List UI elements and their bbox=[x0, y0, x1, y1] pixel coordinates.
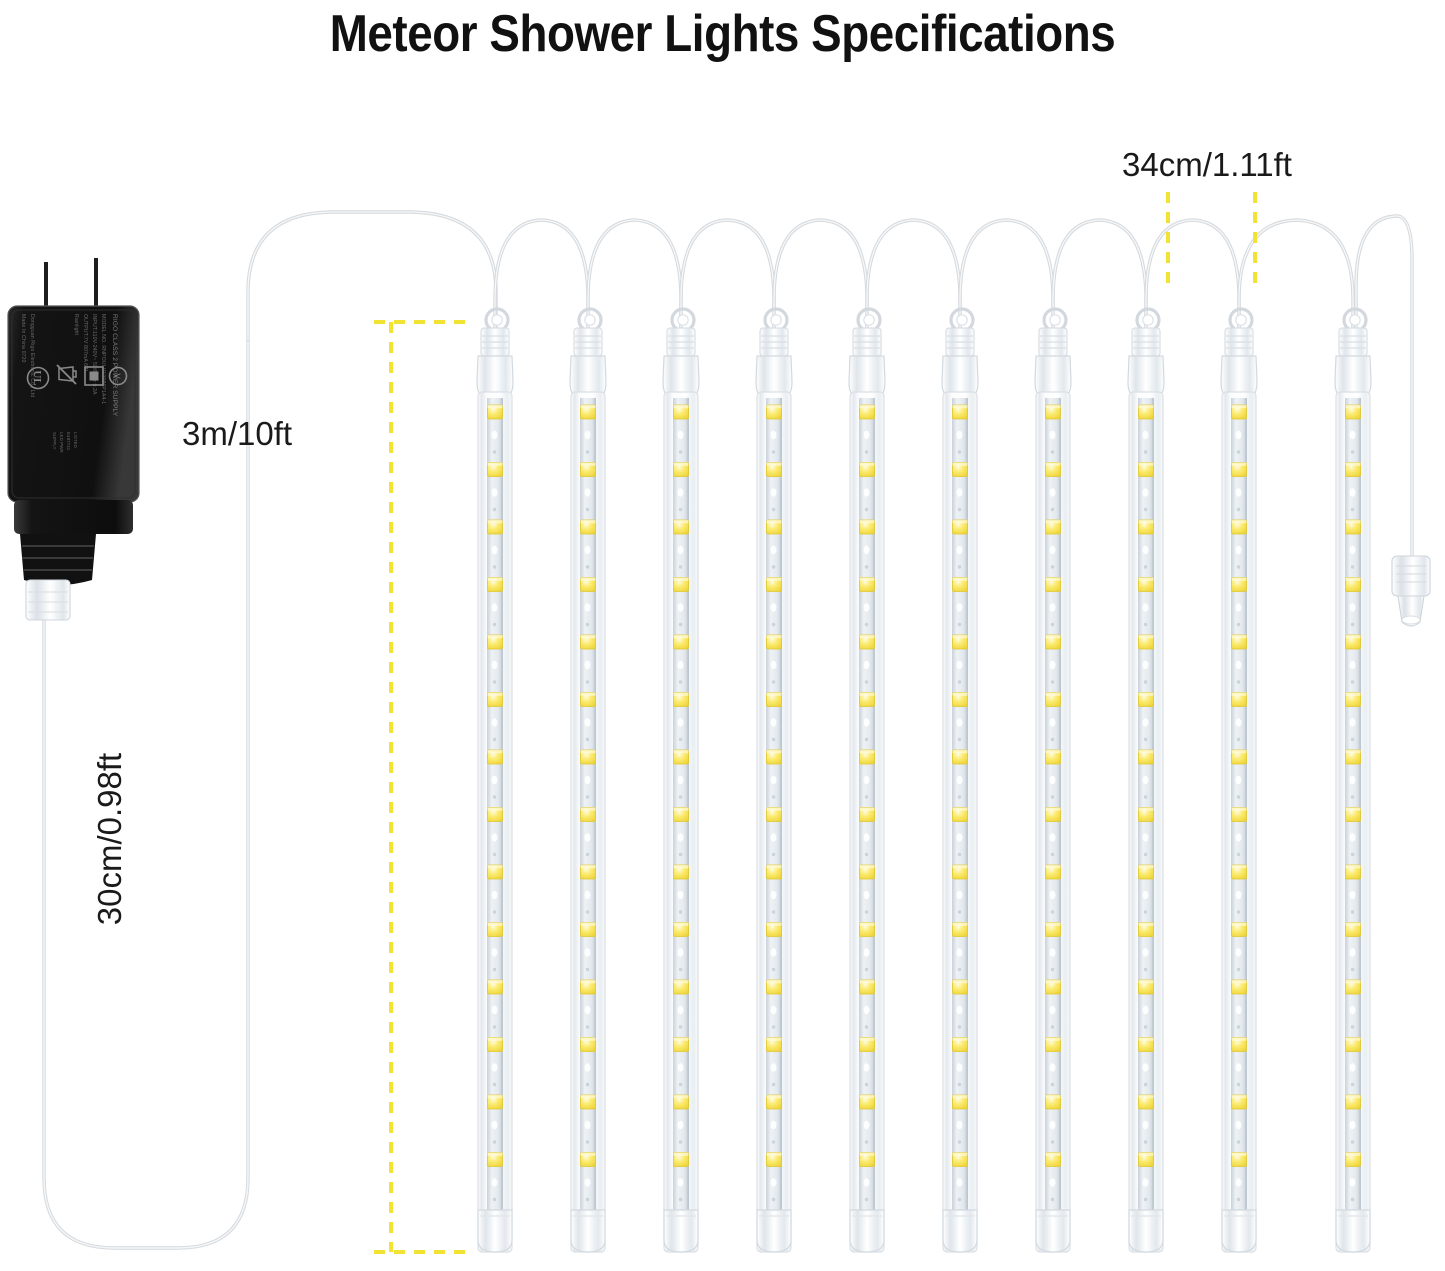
solder-dot bbox=[585, 603, 591, 611]
led-meteor-tube bbox=[1335, 309, 1371, 1252]
solder-dot bbox=[1143, 1178, 1149, 1186]
led-meteor-tube bbox=[1128, 309, 1164, 1252]
solder-dot bbox=[771, 1178, 777, 1186]
solder-dot bbox=[492, 661, 498, 669]
solder-dot bbox=[1143, 833, 1149, 841]
solder-dot bbox=[492, 718, 498, 726]
solder-dot bbox=[1350, 488, 1356, 496]
solder-dot bbox=[678, 1121, 684, 1129]
solder-dot bbox=[1143, 948, 1149, 956]
solder-dot bbox=[678, 431, 684, 439]
solder-dot bbox=[864, 1006, 870, 1014]
solder-dot bbox=[678, 603, 684, 611]
solder-dot bbox=[957, 776, 963, 784]
adapter-neck bbox=[14, 500, 133, 534]
power-adapter bbox=[8, 258, 139, 620]
solder-dot bbox=[1350, 891, 1356, 899]
solder-dot bbox=[1236, 1121, 1242, 1129]
solder-dot bbox=[864, 661, 870, 669]
solder-dot bbox=[1143, 431, 1149, 439]
tube-neck bbox=[667, 328, 695, 356]
connector-arc-group bbox=[495, 220, 1353, 352]
solder-dot bbox=[771, 661, 777, 669]
solder-dot bbox=[1236, 1178, 1242, 1186]
solder-dot bbox=[1350, 603, 1356, 611]
adapter-socket bbox=[26, 580, 70, 620]
solder-dot bbox=[771, 1121, 777, 1129]
solder-dot bbox=[1350, 833, 1356, 841]
solder-dot bbox=[1050, 488, 1056, 496]
solder-dot bbox=[771, 948, 777, 956]
tube-neck bbox=[946, 328, 974, 356]
solder-dot bbox=[771, 488, 777, 496]
led-meteor-tube bbox=[849, 309, 885, 1252]
solder-dot bbox=[1143, 488, 1149, 496]
solder-dot bbox=[678, 1178, 684, 1186]
solder-dot bbox=[957, 891, 963, 899]
solder-dot bbox=[1350, 1006, 1356, 1014]
solder-dot bbox=[864, 833, 870, 841]
end-connector-plug bbox=[1392, 556, 1430, 626]
solder-dot bbox=[492, 1121, 498, 1129]
solder-dot bbox=[1350, 661, 1356, 669]
tube-neck bbox=[1039, 328, 1067, 356]
tube-neck bbox=[1339, 328, 1367, 356]
solder-dot bbox=[585, 833, 591, 841]
solder-dot bbox=[585, 488, 591, 496]
solder-dot bbox=[957, 718, 963, 726]
solder-dot bbox=[492, 776, 498, 784]
solder-dot bbox=[864, 1063, 870, 1071]
solder-dot bbox=[585, 1121, 591, 1129]
solder-dot bbox=[585, 776, 591, 784]
solder-dot bbox=[864, 948, 870, 956]
solder-dot bbox=[585, 431, 591, 439]
solder-dot bbox=[678, 833, 684, 841]
solder-dot bbox=[585, 546, 591, 554]
solder-dot bbox=[864, 1178, 870, 1186]
solder-dot bbox=[957, 488, 963, 496]
solder-dot bbox=[678, 891, 684, 899]
solder-dot bbox=[1236, 603, 1242, 611]
solder-dot bbox=[771, 776, 777, 784]
solder-dot bbox=[585, 661, 591, 669]
solder-dot bbox=[957, 431, 963, 439]
solder-dot bbox=[585, 1178, 591, 1186]
solder-dot bbox=[1350, 718, 1356, 726]
adapter-body bbox=[8, 306, 139, 502]
solder-dot bbox=[1236, 1006, 1242, 1014]
solder-dot bbox=[1050, 833, 1056, 841]
specification-diagram: Meteor Shower Lights Specifications bbox=[0, 0, 1445, 1271]
solder-dot bbox=[678, 1063, 684, 1071]
solder-dot bbox=[771, 431, 777, 439]
solder-dot bbox=[492, 1006, 498, 1014]
solder-dot bbox=[585, 1063, 591, 1071]
solder-dot bbox=[1350, 948, 1356, 956]
solder-dot bbox=[1350, 1121, 1356, 1129]
solder-dot bbox=[1350, 776, 1356, 784]
wire-layer bbox=[44, 212, 1412, 1248]
solder-dot bbox=[492, 1063, 498, 1071]
led-meteor-tube bbox=[1221, 309, 1257, 1252]
solder-dot bbox=[678, 948, 684, 956]
dimension-label-cord-length: 3m/10ft bbox=[182, 415, 292, 453]
solder-dot bbox=[1050, 718, 1056, 726]
solder-dot bbox=[1143, 718, 1149, 726]
solder-dot bbox=[1236, 661, 1242, 669]
solder-dot bbox=[864, 488, 870, 496]
solder-dot bbox=[678, 718, 684, 726]
solder-dot bbox=[771, 546, 777, 554]
solder-dot bbox=[864, 431, 870, 439]
tube-neck bbox=[1132, 328, 1160, 356]
solder-dot bbox=[585, 718, 591, 726]
led-meteor-tube bbox=[570, 309, 606, 1252]
solder-dot bbox=[1350, 1178, 1356, 1186]
solder-dot bbox=[864, 603, 870, 611]
solder-dot bbox=[957, 546, 963, 554]
solder-dot bbox=[585, 1006, 591, 1014]
solder-dot bbox=[957, 1063, 963, 1071]
led-meteor-tube bbox=[663, 309, 699, 1252]
solder-dot bbox=[492, 833, 498, 841]
led-meteor-tube bbox=[477, 309, 513, 1252]
tube-neck bbox=[481, 328, 509, 356]
solder-dot bbox=[1143, 1006, 1149, 1014]
solder-dot bbox=[585, 891, 591, 899]
solder-dot bbox=[1236, 488, 1242, 496]
tube-group bbox=[477, 309, 1371, 1252]
solder-dot bbox=[957, 661, 963, 669]
solder-dot bbox=[1050, 1178, 1056, 1186]
solder-dot bbox=[492, 431, 498, 439]
solder-dot bbox=[492, 891, 498, 899]
solder-dot bbox=[678, 776, 684, 784]
solder-dot bbox=[1050, 1063, 1056, 1071]
solder-dot bbox=[678, 546, 684, 554]
solder-dot bbox=[1143, 891, 1149, 899]
dimension-label-tube-length: 30cm/0.98ft bbox=[91, 689, 129, 989]
solder-dot bbox=[1050, 431, 1056, 439]
solder-dot bbox=[1236, 718, 1242, 726]
solder-dot bbox=[678, 1006, 684, 1014]
solder-dot bbox=[492, 603, 498, 611]
solder-dot bbox=[957, 1006, 963, 1014]
solder-dot bbox=[771, 603, 777, 611]
solder-dot bbox=[1143, 776, 1149, 784]
led-meteor-tube bbox=[756, 309, 792, 1252]
solder-dot bbox=[1143, 603, 1149, 611]
solder-dot bbox=[585, 948, 591, 956]
solder-dot bbox=[1050, 891, 1056, 899]
solder-dot bbox=[771, 891, 777, 899]
solder-dot bbox=[864, 546, 870, 554]
tube-neck bbox=[760, 328, 788, 356]
solder-dot bbox=[1236, 431, 1242, 439]
solder-dot bbox=[771, 1006, 777, 1014]
solder-dot bbox=[1236, 948, 1242, 956]
adapter-collar bbox=[20, 534, 96, 585]
solder-dot bbox=[678, 661, 684, 669]
solder-dot bbox=[1050, 661, 1056, 669]
product-illustration bbox=[0, 0, 1445, 1271]
solder-dot bbox=[957, 1121, 963, 1129]
tube-neck bbox=[1225, 328, 1253, 356]
solder-dot bbox=[1143, 661, 1149, 669]
solder-dot bbox=[1350, 431, 1356, 439]
solder-dot bbox=[864, 718, 870, 726]
solder-dot bbox=[1050, 546, 1056, 554]
solder-dot bbox=[1143, 1063, 1149, 1071]
solder-dot bbox=[492, 546, 498, 554]
solder-dot bbox=[1236, 776, 1242, 784]
led-meteor-tube bbox=[942, 309, 978, 1252]
solder-dot bbox=[957, 948, 963, 956]
solder-dot bbox=[1143, 546, 1149, 554]
solder-dot bbox=[1050, 948, 1056, 956]
solder-dot bbox=[1050, 776, 1056, 784]
solder-dot bbox=[957, 833, 963, 841]
solder-dot bbox=[957, 1178, 963, 1186]
solder-dot bbox=[771, 1063, 777, 1071]
solder-dot bbox=[492, 1178, 498, 1186]
dimension-label-tube-spacing: 34cm/1.11ft bbox=[1122, 146, 1292, 184]
solder-dot bbox=[1236, 891, 1242, 899]
solder-dot bbox=[1050, 1006, 1056, 1014]
solder-dot bbox=[771, 833, 777, 841]
solder-dot bbox=[864, 1121, 870, 1129]
solder-dot bbox=[1143, 1121, 1149, 1129]
solder-dot bbox=[1050, 1121, 1056, 1129]
solder-dot bbox=[492, 948, 498, 956]
solder-dot bbox=[1350, 546, 1356, 554]
solder-dot bbox=[1050, 603, 1056, 611]
solder-dot bbox=[1236, 833, 1242, 841]
solder-dot bbox=[1236, 1063, 1242, 1071]
solder-dot bbox=[1350, 1063, 1356, 1071]
led-meteor-tube bbox=[1035, 309, 1071, 1252]
solder-dot bbox=[1236, 546, 1242, 554]
solder-dot bbox=[771, 718, 777, 726]
solder-dot bbox=[678, 488, 684, 496]
tube-neck bbox=[853, 328, 881, 356]
solder-dot bbox=[957, 603, 963, 611]
tube-neck bbox=[574, 328, 602, 356]
solder-dot bbox=[492, 488, 498, 496]
solder-dot bbox=[864, 891, 870, 899]
solder-dot bbox=[864, 776, 870, 784]
